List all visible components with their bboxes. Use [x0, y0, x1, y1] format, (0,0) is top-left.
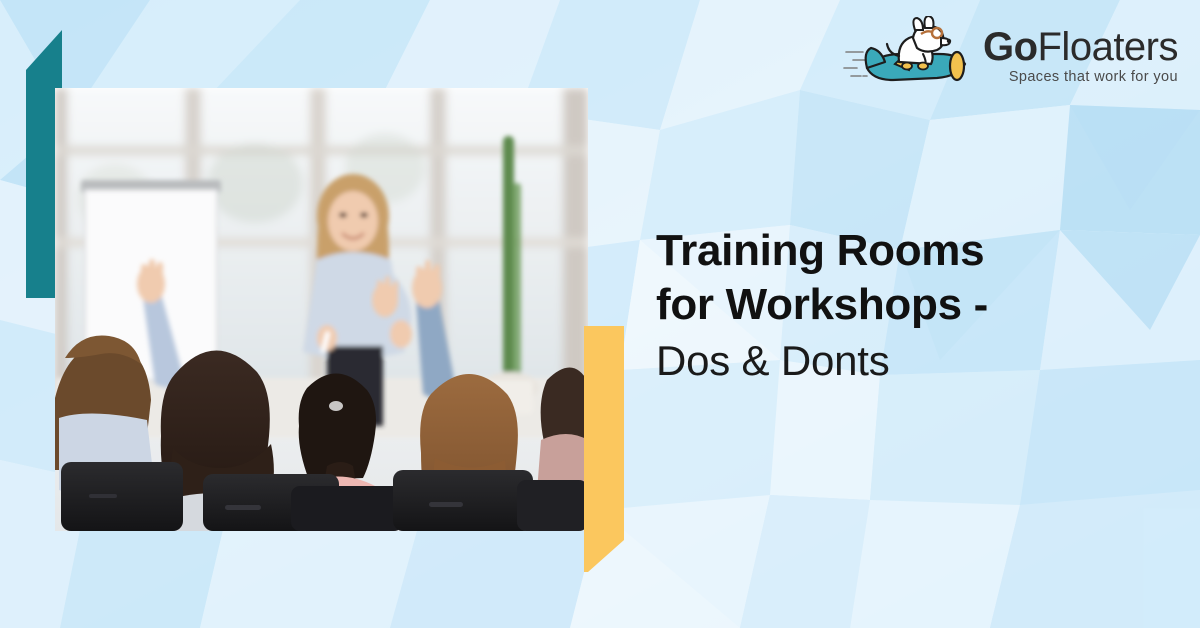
headline-line-1: Training Rooms — [656, 224, 1176, 278]
logo-wordmark: GoFloaters — [983, 27, 1178, 68]
dog-on-airplane-icon — [843, 16, 973, 96]
headline-line-3: Dos & Donts — [656, 335, 1176, 386]
logo-text-block: GoFloaters Spaces that work for you — [983, 27, 1178, 86]
promo-banner: GoFloaters Spaces that work for you Trai… — [0, 0, 1200, 628]
gofloaters-logo[interactable]: GoFloaters Spaces that work for you — [843, 16, 1178, 96]
headline-block: Training Rooms for Workshops - Dos & Don… — [656, 224, 1176, 387]
yellow-accent-bar — [584, 326, 624, 572]
logo-wordmark-go: Go — [983, 25, 1038, 69]
logo-tagline: Spaces that work for you — [983, 69, 1178, 85]
training-room-photo — [55, 88, 588, 531]
logo-wordmark-floaters: Floaters — [1038, 25, 1179, 69]
headline-line-2: for Workshops - — [656, 278, 1176, 332]
